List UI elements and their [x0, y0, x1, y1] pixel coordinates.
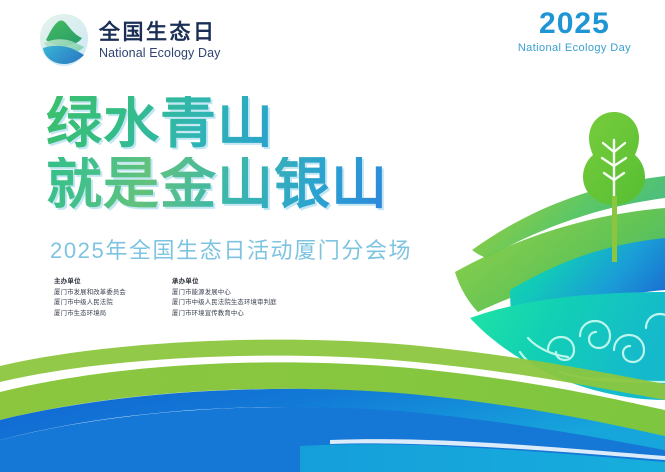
logo-title-cn: 全国生态日 — [99, 21, 221, 45]
ribbon-teal-low — [470, 292, 665, 400]
ribbon-group-right — [455, 176, 665, 400]
event-subtitle: 2025年全国生态日活动厦门分会场 — [50, 233, 412, 265]
logo-lockup: 全国生态日 National Ecology Day — [38, 12, 221, 68]
year-number: 2025 — [518, 8, 631, 40]
credits-block: 主办单位 厦门市发展和改革委员会 厦门市中级人民法院 厦门市生态环境局 承办单位… — [54, 277, 277, 319]
wave-cyan-accent — [300, 444, 665, 472]
green-tree-icon — [583, 112, 645, 262]
credit-item: 厦门市生态环境局 — [54, 309, 150, 319]
poster-canvas: 全国生态日 National Ecology Day 2025 National… — [0, 0, 665, 472]
credit-column-organizer: 主办单位 厦门市发展和改革委员会 厦门市中级人民法院 厦门市生态环境局 — [54, 277, 150, 319]
wave-green-main — [0, 362, 665, 438]
cloud-wave-pattern — [520, 314, 665, 382]
ribbon-green-upper — [472, 176, 665, 258]
wave-blue-main — [0, 389, 665, 452]
headline-block: 绿水青山 就是金山银山 — [46, 96, 388, 213]
bottom-wave-group — [0, 340, 665, 472]
credit-item: 厦门市中级人民法院生态环境审判庭 — [172, 298, 277, 308]
credit-item: 厦门市能源发展中心 — [172, 288, 277, 298]
ribbon-green-top — [455, 208, 665, 312]
logo-text-block: 全国生态日 National Ecology Day — [99, 19, 221, 62]
credit-item: 厦门市环境宣传教育中心 — [172, 309, 277, 319]
credit-item: 厦门市发展和改革委员会 — [54, 288, 150, 298]
mountain-water-circle-icon — [38, 12, 90, 68]
ribbon-teal-blue — [510, 238, 665, 340]
credit-column-co-organizer: 承办单位 厦门市能源发展中心 厦门市中级人民法院生态环境审判庭 厦门市环境宣传教… — [172, 277, 277, 319]
headline-line-2: 就是金山银山 — [46, 157, 388, 212]
credit-heading: 承办单位 — [172, 277, 277, 286]
wave-white-sliver — [330, 439, 665, 460]
credit-heading: 主办单位 — [54, 277, 150, 286]
wave-green-thin — [0, 340, 665, 400]
credit-item: 厦门市中级人民法院 — [54, 298, 150, 308]
wave-blue-fill — [0, 407, 665, 472]
tree-trunk — [612, 196, 617, 262]
year-badge: 2025 National Ecology Day — [518, 8, 631, 54]
headline-line-1: 绿水青山 — [46, 96, 388, 151]
logo-title-en: National Ecology Day — [99, 46, 221, 61]
year-caption: National Ecology Day — [518, 42, 631, 54]
